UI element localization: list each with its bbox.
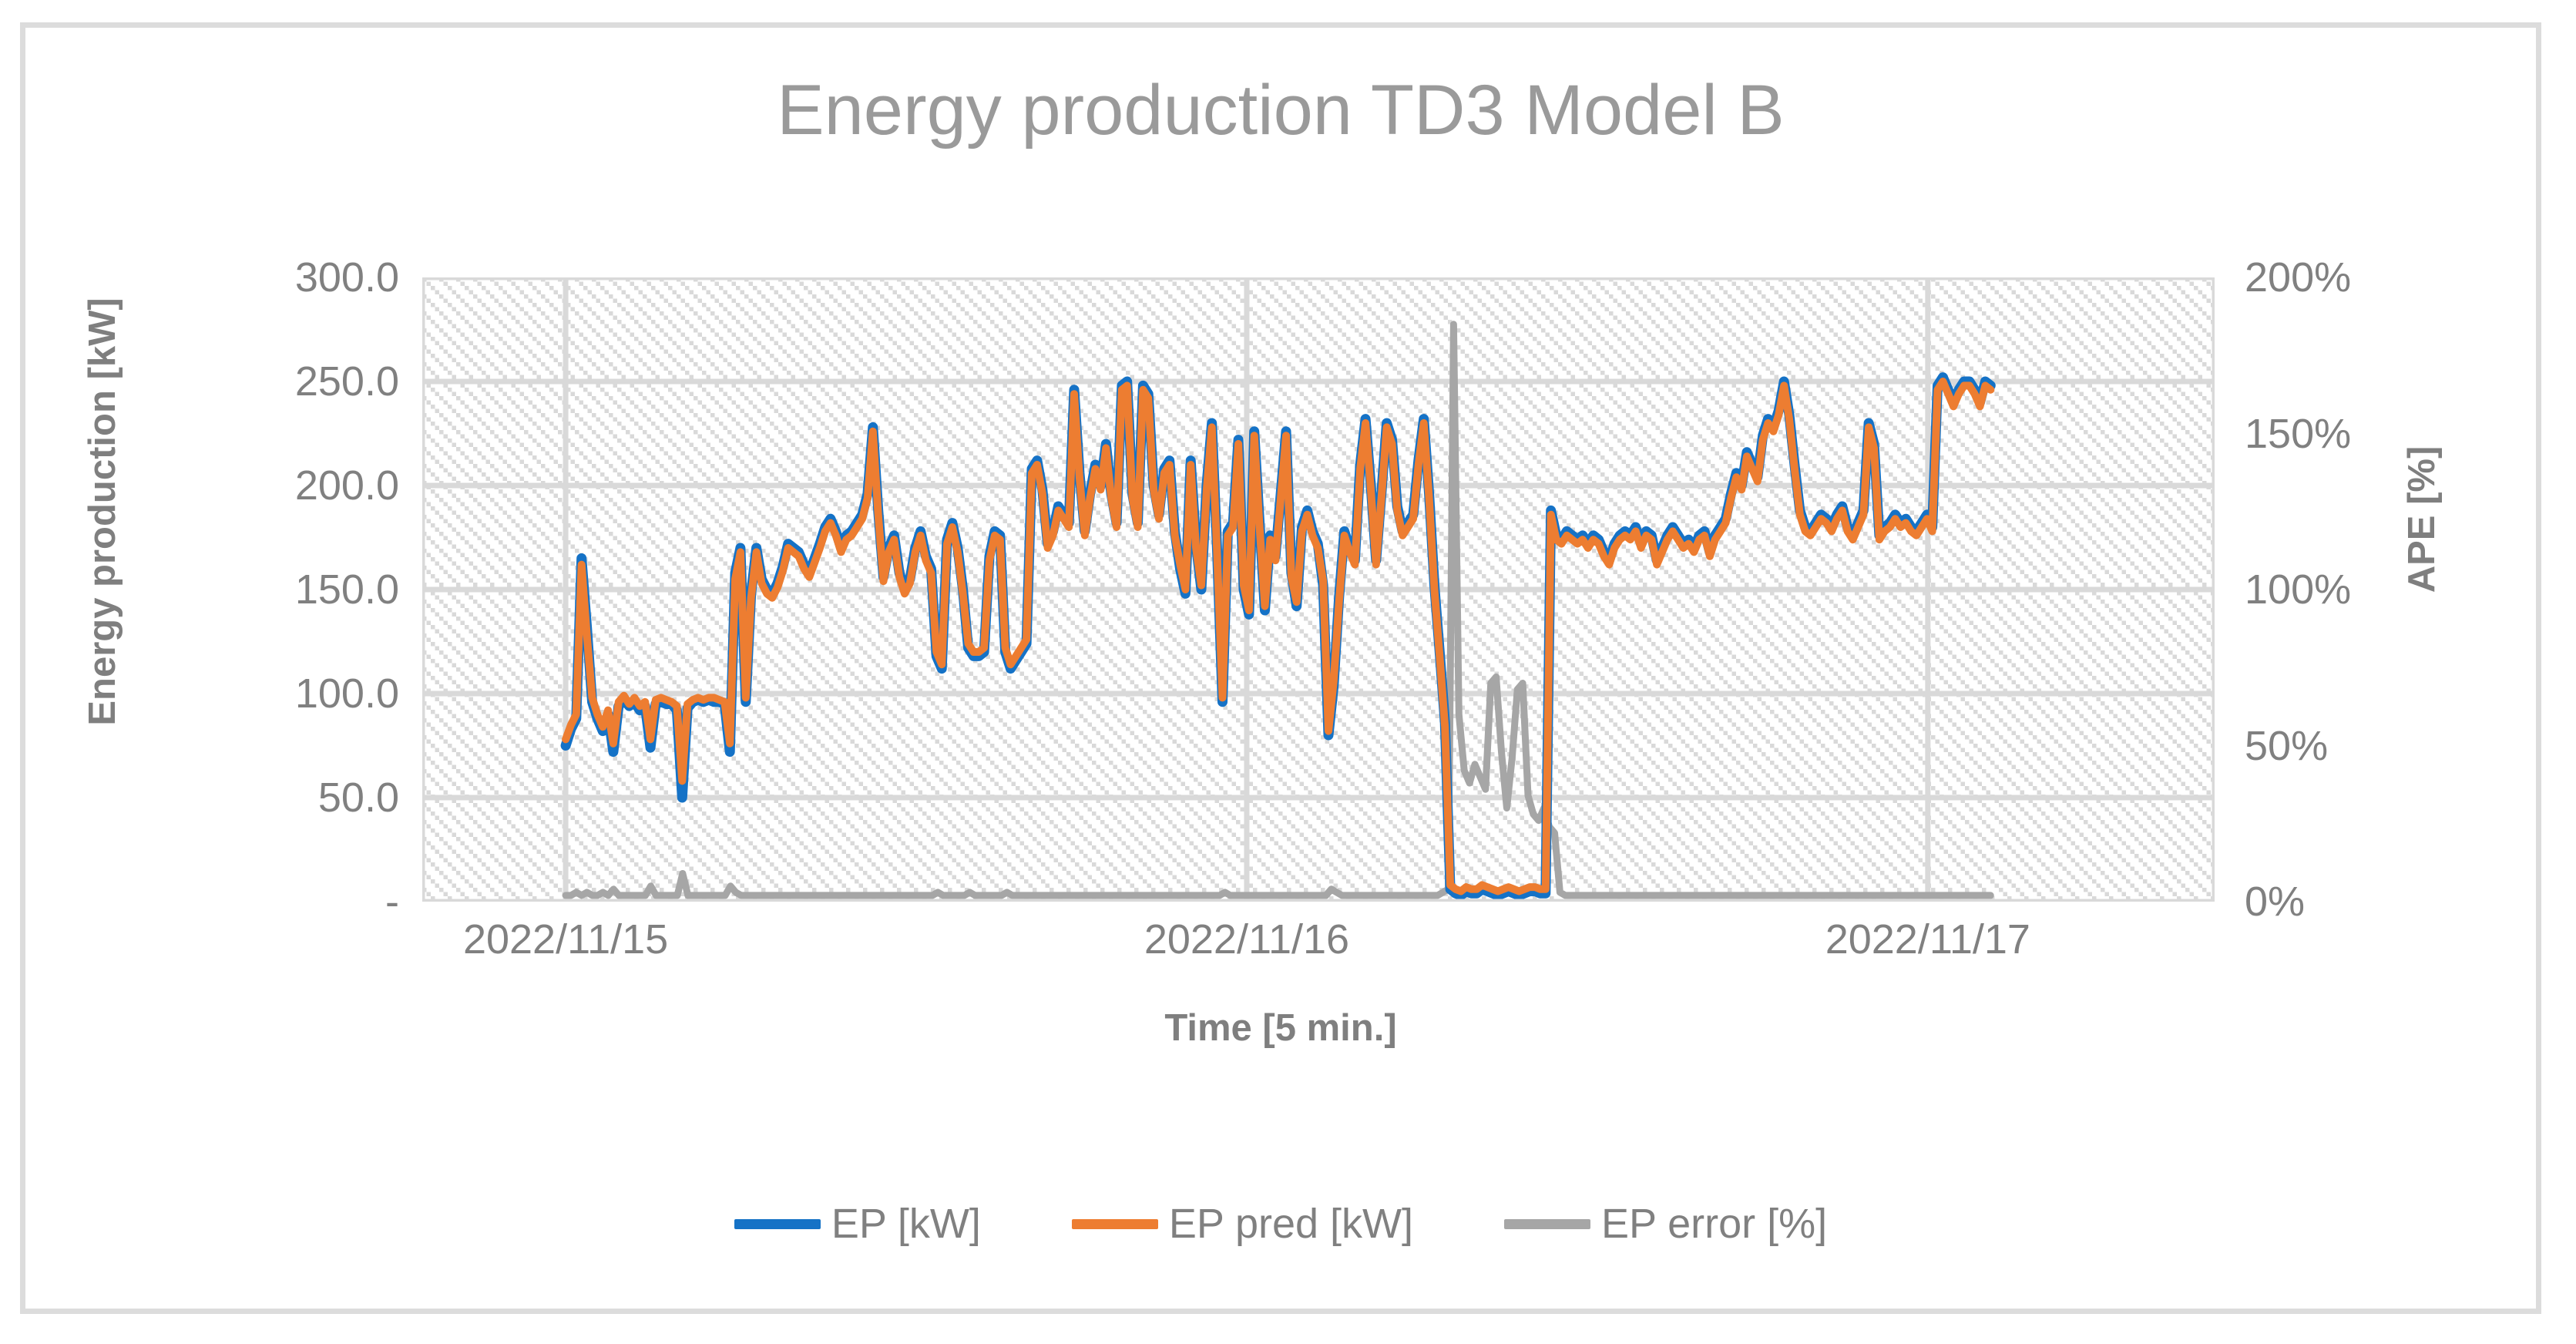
chart-title: Energy production TD3 Model B: [25, 70, 2536, 151]
x-axis-tick-label: 2022/11/15: [463, 916, 668, 963]
chart-legend: EP [kW]EP pred [kW]EP error [%]: [25, 1203, 2536, 1245]
y-axis-right-ticks: 200%150%100%50%0%: [2245, 28, 2476, 1309]
legend-label: EP [kW]: [831, 1203, 981, 1245]
y-axis-left-tick-label: 250.0: [199, 358, 399, 405]
y-axis-left-tick-label: 300.0: [199, 254, 399, 301]
x-axis-tick-label: 2022/11/16: [1144, 916, 1349, 963]
plot-area: [422, 277, 2215, 902]
legend-swatch-icon: [1072, 1219, 1158, 1229]
chart-canvas: [422, 277, 2215, 902]
legend-label: EP error [%]: [1601, 1203, 1827, 1245]
legend-item[interactable]: EP error [%]: [1504, 1203, 1827, 1245]
x-axis-tick-label: 2022/11/17: [1825, 916, 2030, 963]
chart-frame: Energy production TD3 Model B Energy pro…: [20, 22, 2541, 1314]
y-axis-left-tick-label: 200.0: [199, 462, 399, 509]
y-axis-right-tick-label: 200%: [2245, 254, 2445, 301]
y-axis-left-ticks: 300.0250.0200.0150.0100.050.0-: [99, 28, 399, 1309]
y-axis-right-tick-label: 50%: [2245, 722, 2445, 770]
y-axis-left-tick-label: 50.0: [199, 774, 399, 822]
legend-label: EP pred [kW]: [1169, 1203, 1413, 1245]
legend-swatch-icon: [734, 1219, 821, 1229]
y-axis-right-tick-label: 150%: [2245, 410, 2445, 458]
y-axis-left-tick-label: 150.0: [199, 566, 399, 613]
y-axis-left-tick-label: 100.0: [199, 670, 399, 717]
legend-swatch-icon: [1504, 1219, 1590, 1229]
legend-item[interactable]: EP [kW]: [734, 1203, 981, 1245]
y-axis-right-tick-label: 100%: [2245, 566, 2445, 613]
x-axis-ticks: 2022/11/152022/11/162022/11/17: [25, 916, 2536, 985]
legend-item[interactable]: EP pred [kW]: [1072, 1203, 1413, 1245]
x-axis-title: Time [5 min.]: [25, 1006, 2536, 1050]
